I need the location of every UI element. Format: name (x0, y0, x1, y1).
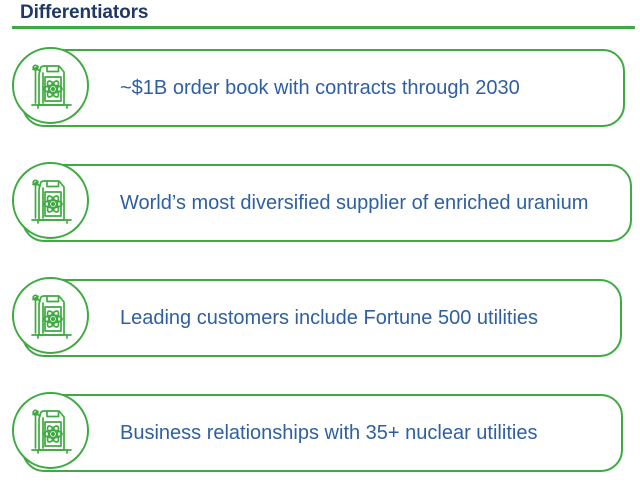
differentiator-badge (12, 392, 89, 469)
differentiator-pill[interactable]: Leading customers include Fortune 500 ut… (22, 279, 622, 357)
nuclear-fuel-canister-icon (27, 290, 75, 342)
differentiator-label: Business relationships with 35+ nuclear … (120, 396, 609, 470)
nuclear-fuel-canister-icon (27, 175, 75, 227)
differentiator-label: World’s most diversified supplier of enr… (120, 166, 618, 240)
differentiator-label: ~$1B order book with contracts through 2… (120, 51, 611, 125)
slide-canvas: Differentiators ~$1B order book with con… (0, 0, 640, 486)
title-underline-rule (12, 26, 635, 29)
differentiator-badge (12, 47, 89, 124)
page-title-block: Differentiators (12, 1, 635, 31)
differentiator-pill[interactable]: ~$1B order book with contracts through 2… (22, 49, 625, 127)
differentiator-pill[interactable]: Business relationships with 35+ nuclear … (22, 394, 623, 472)
nuclear-fuel-canister-icon (27, 405, 75, 457)
nuclear-fuel-canister-icon (27, 60, 75, 112)
differentiator-badge (12, 277, 89, 354)
differentiator-badge (12, 162, 89, 239)
differentiator-pill[interactable]: World’s most diversified supplier of enr… (22, 164, 632, 242)
page-title: Differentiators (20, 1, 148, 25)
differentiator-label: Leading customers include Fortune 500 ut… (120, 281, 608, 355)
